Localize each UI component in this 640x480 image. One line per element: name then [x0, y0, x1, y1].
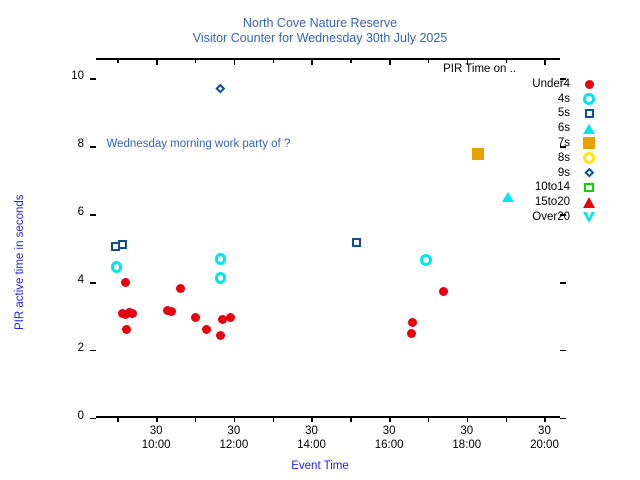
legend-item-label: 10to14 — [535, 180, 570, 195]
x-tick-time: 16:00 — [375, 439, 404, 451]
x-tick — [544, 416, 545, 422]
marker-inner-cutout — [586, 211, 592, 218]
legend-item-marker — [578, 166, 600, 181]
legend: PIR Time on .. Under44s5s6s7s8s9s10to141… — [430, 62, 600, 225]
data-point-Under4 — [176, 284, 185, 293]
x-tick-label: 3012:00 — [194, 424, 274, 452]
data-point-Under4 — [191, 313, 200, 322]
marker-square-open — [585, 109, 594, 118]
legend-title-row: PIR Time on .. — [430, 62, 600, 77]
x-tick-day: 30 — [227, 425, 240, 437]
data-point-Under4 — [121, 278, 130, 287]
x-tick-minor-top — [117, 59, 118, 63]
axis-spine-top — [96, 58, 560, 60]
legend-item-marker — [578, 151, 600, 166]
axis-spine-bottom — [96, 416, 560, 418]
x-tick-time: 20:00 — [530, 439, 559, 451]
x-tick-day: 30 — [305, 425, 318, 437]
legend-item-15to20[interactable]: 15to20 — [430, 195, 600, 210]
legend-item-label: 9s — [558, 166, 570, 181]
x-tick-label: 3010:00 — [116, 424, 196, 452]
x-tick-label: 3018:00 — [427, 424, 507, 452]
x-tick-minor — [195, 418, 196, 422]
marker-circle-open — [583, 152, 595, 164]
data-point-Under4 — [408, 318, 417, 327]
chart-canvas: North Cove Nature Reserve Visitor Counte… — [0, 0, 640, 480]
legend-title: PIR Time on .. — [443, 62, 516, 77]
data-point-Under4 — [439, 287, 448, 296]
legend-item-5s[interactable]: 5s — [430, 106, 600, 121]
marker-square-filled — [583, 137, 595, 149]
x-tick-minor-top — [195, 59, 196, 63]
marker-triangle-filled — [583, 197, 595, 208]
x-tick-time: 12:00 — [219, 439, 248, 451]
data-point-Under4 — [216, 331, 225, 340]
x-tick-time: 14:00 — [297, 439, 326, 451]
data-point-Under4 — [226, 313, 235, 322]
x-tick-top — [234, 59, 235, 65]
legend-item-7s[interactable]: 7s — [430, 136, 600, 151]
y-tick-label: 0 — [0, 410, 84, 422]
annotation-label: Wednesday morning work party of ? — [106, 138, 290, 150]
marker-triangle-filled — [583, 124, 595, 134]
legend-item-4s[interactable]: 4s — [430, 92, 600, 107]
x-tick — [311, 416, 312, 422]
y-tick-label: 4 — [0, 274, 84, 286]
data-point-4s — [215, 272, 227, 284]
legend-item-Under4[interactable]: Under4 — [430, 77, 600, 92]
y-tick-label: 8 — [0, 138, 84, 150]
x-tick-label: 3016:00 — [349, 424, 429, 452]
marker-circle-filled — [585, 80, 594, 89]
y-tick — [90, 214, 96, 215]
x-tick — [156, 416, 157, 422]
data-point-Under4 — [407, 329, 416, 338]
legend-item-marker — [578, 195, 600, 210]
x-tick-minor-top — [273, 59, 274, 63]
y-tick — [90, 146, 96, 147]
x-tick-minor — [117, 418, 118, 422]
x-tick-minor — [506, 418, 507, 422]
legend-item-marker — [578, 180, 600, 195]
x-tick-top — [311, 59, 312, 65]
legend-item-9s[interactable]: 9s — [430, 166, 600, 181]
marker-square-open — [584, 183, 594, 193]
data-point-4s — [111, 261, 123, 273]
x-tick-time: 18:00 — [452, 439, 481, 451]
x-tick-minor — [428, 418, 429, 422]
data-point-Under4 — [128, 309, 137, 318]
legend-item-label: Under4 — [532, 77, 570, 92]
legend-item-label: 4s — [558, 92, 570, 107]
legend-item-label: Over20 — [532, 210, 570, 225]
y-tick-label: 10 — [0, 70, 84, 82]
y-tick — [90, 418, 96, 419]
legend-item-marker — [578, 136, 600, 151]
legend-item-label: 7s — [558, 136, 570, 151]
x-axis-title: Event Time — [0, 460, 640, 472]
x-tick-day: 30 — [460, 425, 473, 437]
x-tick-minor-top — [350, 59, 351, 63]
legend-item-label: 8s — [558, 151, 570, 166]
x-tick — [389, 416, 390, 422]
x-tick-label: 3014:00 — [271, 424, 351, 452]
x-tick-day: 30 — [150, 425, 163, 437]
legend-item-Over20[interactable]: Over20 — [430, 210, 600, 225]
x-tick-minor — [273, 418, 274, 422]
legend-item-label: 15to20 — [535, 195, 570, 210]
chart-title-line1: North Cove Nature Reserve — [0, 16, 640, 31]
legend-item-6s[interactable]: 6s — [430, 121, 600, 136]
y-tick — [90, 282, 96, 283]
x-tick-day: 30 — [383, 425, 396, 437]
x-tick — [234, 416, 235, 422]
legend-item-8s[interactable]: 8s — [430, 151, 600, 166]
chart-subtitle-line2: Visitor Counter for Wednesday 30th July … — [0, 31, 640, 46]
data-point-9s — [215, 84, 224, 93]
x-tick-minor — [350, 418, 351, 422]
legend-item-marker — [578, 77, 600, 92]
x-tick-top — [156, 59, 157, 65]
legend-item-marker — [578, 106, 600, 121]
marker-triangle_down-open — [583, 212, 595, 223]
marker-diamond-open — [584, 168, 593, 177]
data-point-Under4 — [167, 307, 176, 316]
data-point-5s — [118, 240, 127, 249]
data-point-5s — [352, 238, 361, 247]
data-point-Under4 — [122, 325, 131, 334]
y-tick — [90, 350, 96, 351]
data-point-4s — [215, 253, 227, 265]
marker-circle-open — [583, 93, 595, 105]
legend-item-label: 5s — [558, 106, 570, 121]
y-tick-right — [560, 282, 566, 283]
legend-item-10to14[interactable]: 10to14 — [430, 180, 600, 195]
y-tick-label: 6 — [0, 206, 84, 218]
y-tick-right — [560, 418, 566, 419]
x-tick-top — [389, 59, 390, 65]
data-point-4s — [420, 254, 432, 266]
x-tick-label: 3020:00 — [504, 424, 584, 452]
x-tick-day: 30 — [538, 425, 551, 437]
y-tick-right — [560, 350, 566, 351]
x-tick — [467, 416, 468, 422]
legend-item-marker — [578, 92, 600, 107]
x-tick-time: 10:00 — [142, 439, 171, 451]
data-point-Under4 — [202, 325, 211, 334]
legend-item-marker — [578, 210, 600, 225]
legend-item-label: 6s — [558, 121, 570, 136]
legend-item-marker — [578, 121, 600, 136]
y-tick-label: 2 — [0, 342, 84, 354]
y-tick — [90, 78, 96, 79]
